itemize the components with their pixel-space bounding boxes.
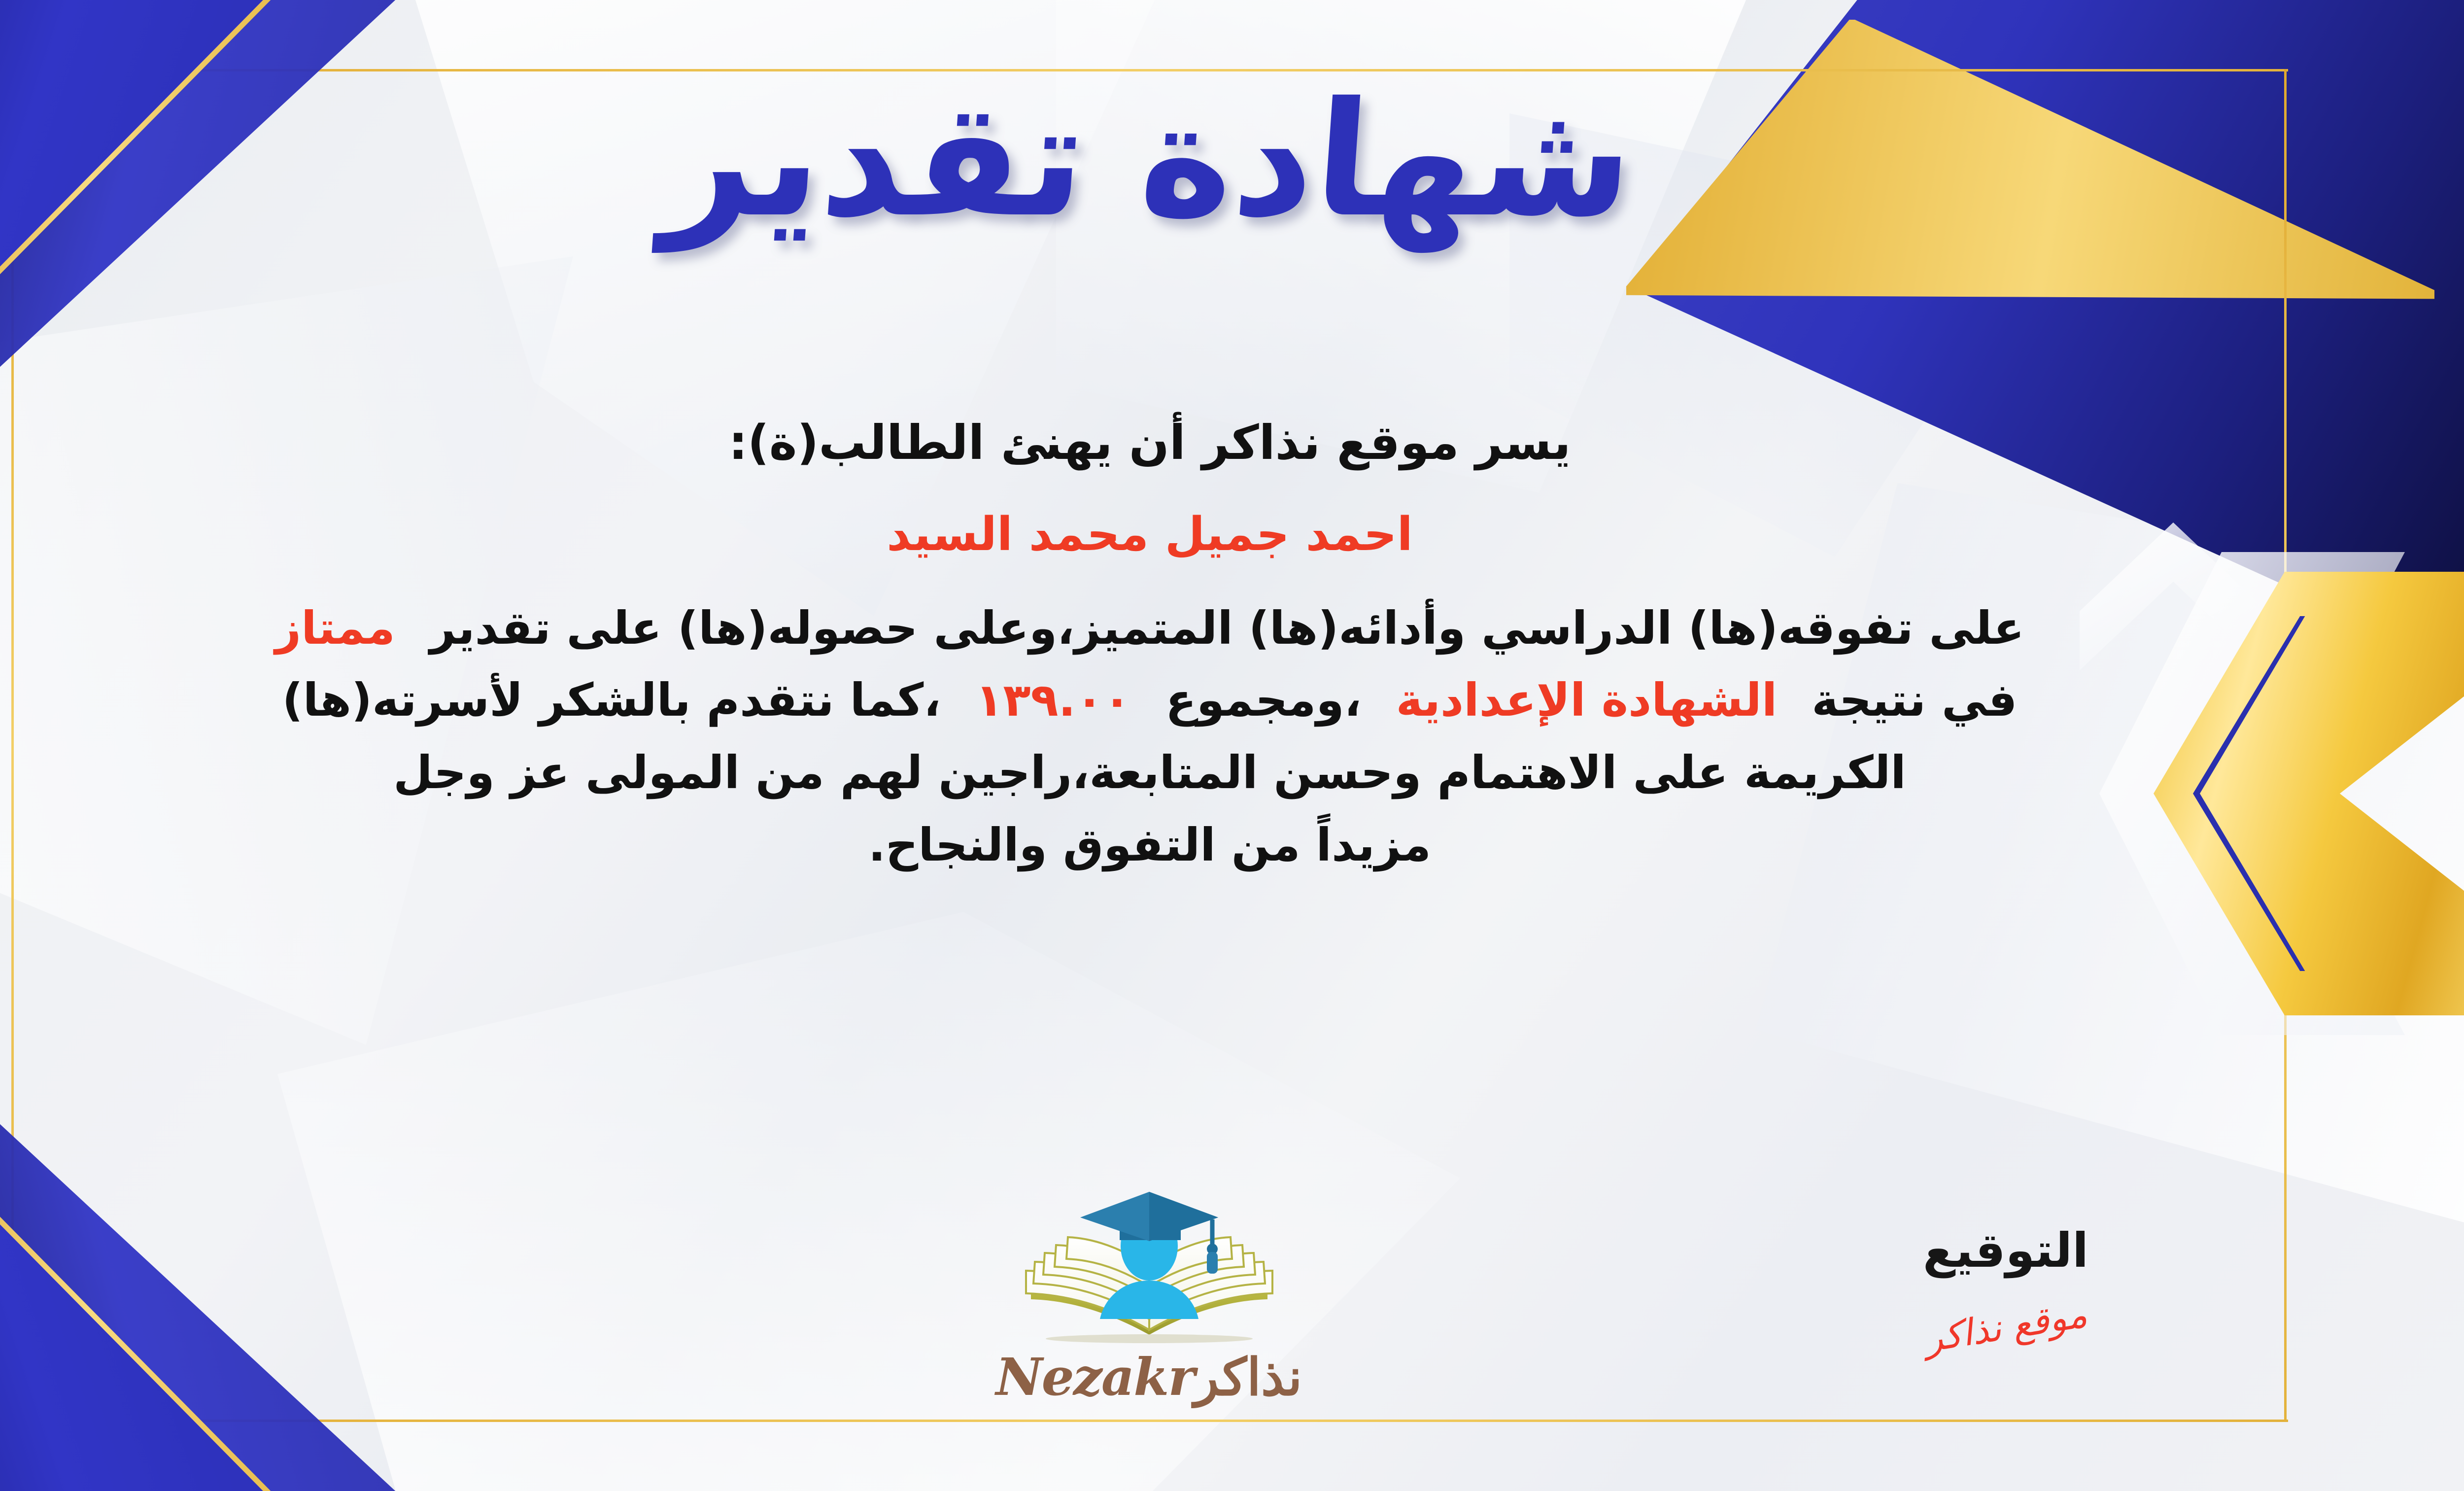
logo-graphic [957,1187,1341,1350]
total-score-value: ١٣٩.٠٠ [975,674,1131,727]
signature-block: التوقيع موقع نذاكر [1853,1223,2158,1348]
brand-logo: نذاكرNezakr [957,1187,1341,1407]
achievement-paragraph: على تفوقه(ها) الدراسي وأدائه(ها) المتميز… [46,596,2254,878]
corner-chevron-bottom-left [0,978,401,1491]
logo-wordmark: نذاكرNezakr [957,1347,1341,1407]
paragraph-line-1: على تفوقه(ها) الدراسي وأدائه(ها) المتميز… [46,596,2254,661]
thanks-text: ،كما نتقدم بالشكر لأسرته(ها) [282,674,941,727]
grade-value: ممتاز [275,602,395,655]
paragraph-line-2: في نتيجةالشهادة الإعدادية،ومجموع١٣٩.٠٠،ك… [46,668,2254,733]
exam-name: الشهادة الإعدادية [1396,674,1778,727]
paragraph-line-1-text: على تفوقه(ها) الدراسي وأدائه(ها) المتميز… [430,602,2024,655]
page-title: شهادة تقدير [659,81,1639,239]
logo-name-latin: Nezakr [996,1347,1195,1407]
frame-border-bottom [11,1420,2288,1422]
greeting-line: يسر موقع نذاكر أن يهنئ الطالب(ة): [46,409,2254,476]
paragraph-line-4: مزيداً من التفوق والنجاح. [46,813,2254,878]
signature-handwritten-mark: موقع نذاكر [1921,1293,2090,1361]
student-name: احمد جميل محمد السيد [46,502,2254,567]
certificate-body: يسر موقع نذاكر أن يهنئ الطالب(ة): احمد ج… [46,409,2254,885]
signature-label: التوقيع [1853,1223,2158,1278]
logo-name-arabic: نذاكر [1194,1347,1302,1407]
frame-border-left [11,69,14,1422]
certificate-page: شهادة تقدير يسر موقع نذاكر أن يهنئ الطال… [0,0,2464,1491]
title-container: شهادة تقدير [0,81,2464,239]
logo-svg [957,1187,1341,1350]
paragraph-line-3: الكريمة على الاهتمام وحسن المتابعة،راجين… [46,741,2254,805]
total-label-text: ،ومجموع [1165,674,1362,727]
exam-prefix-text: في نتيجة [1812,674,2017,727]
